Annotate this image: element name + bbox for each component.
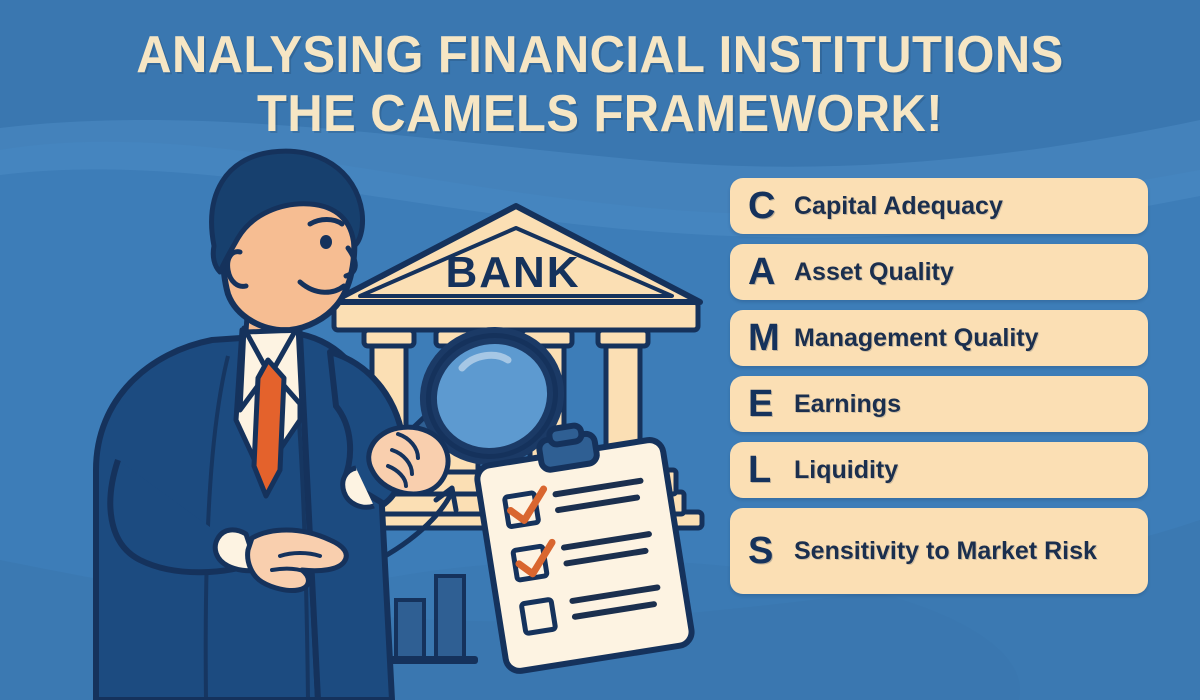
camels-item-s[interactable]: S Sensitivity to Market Risk — [730, 508, 1148, 594]
camels-item-a[interactable]: A Asset Quality — [730, 244, 1148, 300]
title-line-2: THE CAMELS FRAMEWORK! — [36, 87, 1164, 142]
camels-label-c: Capital Adequacy — [794, 192, 1003, 220]
camels-item-m[interactable]: M Management Quality — [730, 310, 1148, 366]
title-line-1: ANALYSING FINANCIAL INSTITUTIONS — [36, 28, 1164, 83]
camels-framework-list: C Capital Adequacy A Asset Quality M Man… — [730, 178, 1148, 604]
infographic-canvas: BANK — [0, 0, 1200, 700]
camels-letter-c: C — [748, 187, 794, 225]
businessman-illustration — [96, 151, 404, 700]
camels-item-e[interactable]: E Earnings — [730, 376, 1148, 432]
camels-item-c[interactable]: C Capital Adequacy — [730, 178, 1148, 234]
camels-label-a: Asset Quality — [794, 258, 954, 286]
camels-letter-a: A — [748, 253, 794, 291]
camels-item-l[interactable]: L Liquidity — [730, 442, 1148, 498]
camels-letter-l: L — [748, 451, 794, 489]
camels-letter-e: E — [748, 385, 794, 423]
camels-label-m: Management Quality — [794, 324, 1039, 352]
camels-letter-m: M — [748, 319, 794, 357]
camels-label-l: Liquidity — [794, 456, 898, 484]
page-title: ANALYSING FINANCIAL INSTITUTIONS THE CAM… — [0, 28, 1200, 141]
bank-sign-text: BANK — [445, 248, 580, 297]
camels-label-s: Sensitivity to Market Risk — [794, 537, 1097, 565]
camels-letter-s: S — [748, 532, 794, 570]
camels-label-e: Earnings — [794, 390, 901, 418]
